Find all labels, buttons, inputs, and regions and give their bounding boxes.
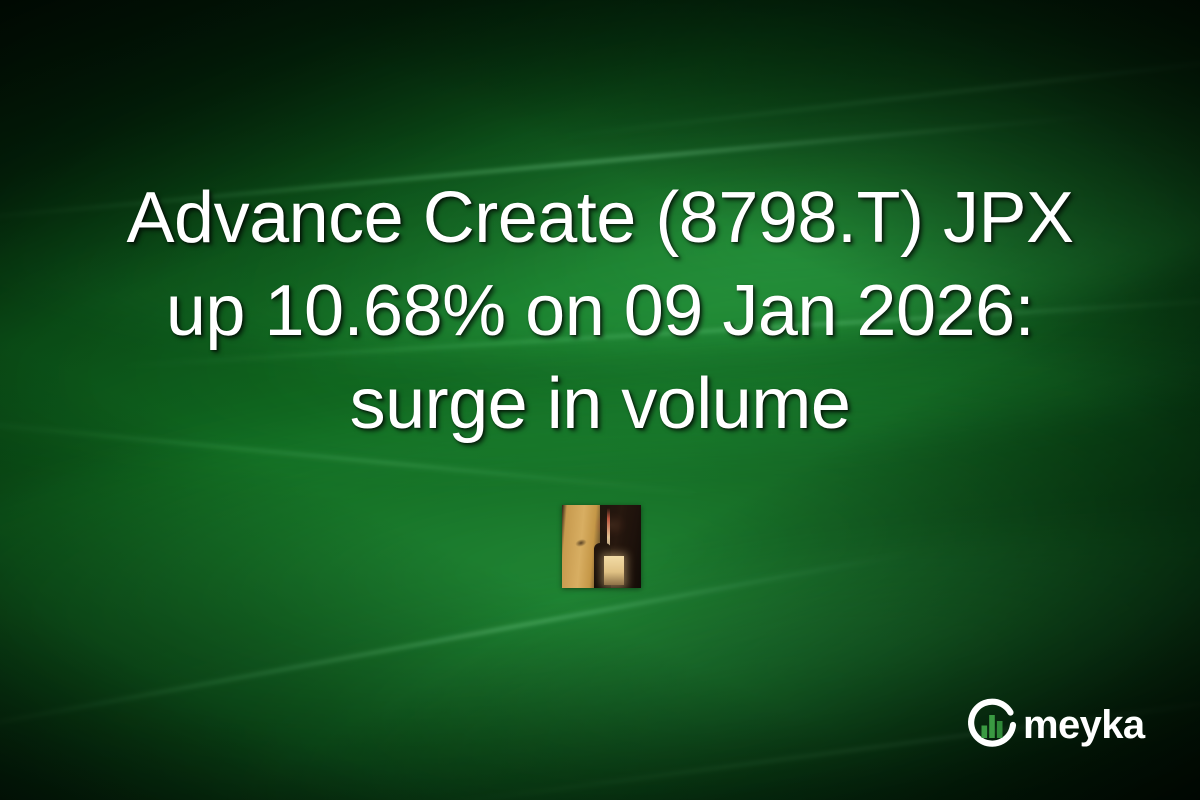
headline-line-2: up 10.68% on 09 Jan 2026: <box>0 265 1200 358</box>
headline: Advance Create (8798.T) JPX up 10.68% on… <box>0 172 1200 451</box>
meyka-bar-chart-ring-icon <box>965 698 1019 752</box>
social-share-card: Advance Create (8798.T) JPX up 10.68% on… <box>0 0 1200 800</box>
headline-line-1: Advance Create (8798.T) JPX <box>0 172 1200 265</box>
thumbnail-lamp-glow <box>604 556 625 584</box>
article-thumbnail-image <box>562 505 641 588</box>
meyka-logo[interactable]: meyka <box>965 698 1145 752</box>
headline-line-3: surge in volume <box>0 358 1200 451</box>
meyka-wordmark: meyka <box>1023 705 1145 745</box>
